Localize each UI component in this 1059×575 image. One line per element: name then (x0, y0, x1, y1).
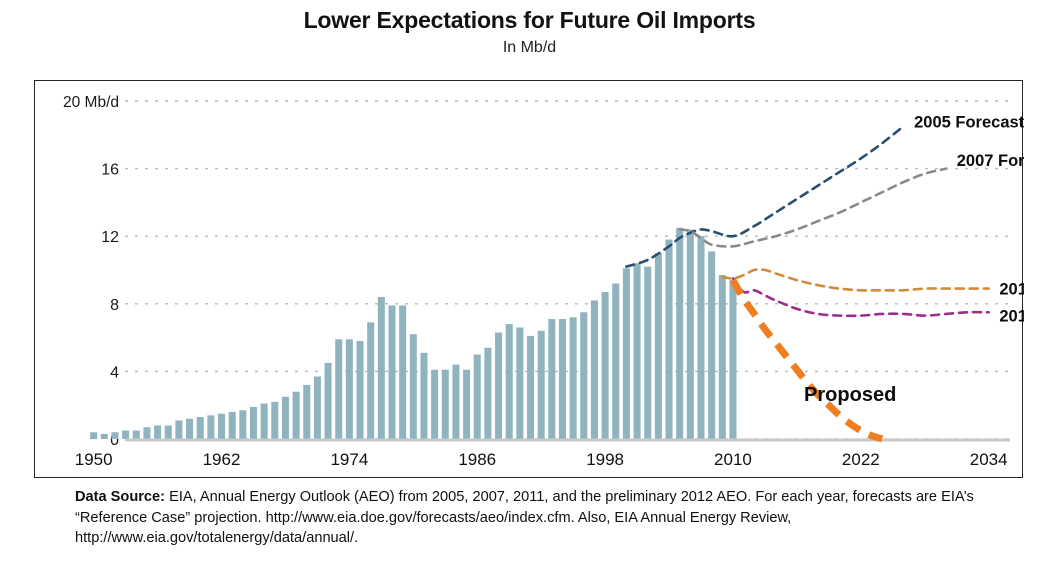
svg-text:2012 Forcast: 2012 Forcast (999, 308, 1024, 326)
svg-text:1998: 1998 (586, 450, 624, 469)
svg-text:1986: 1986 (458, 450, 496, 469)
y-axis-labels: 048121620 Mb/d (63, 94, 119, 449)
svg-text:Proposed: Proposed (804, 384, 896, 406)
svg-text:2005 Forecast: 2005 Forecast (914, 113, 1024, 131)
svg-text:2011 Forcast: 2011 Forcast (999, 281, 1024, 299)
bar-series (90, 228, 736, 439)
svg-text:2007 Forecast: 2007 Forecast (957, 152, 1024, 170)
svg-text:16: 16 (101, 162, 119, 179)
data-source-label: Data Source: (75, 489, 165, 505)
svg-text:2010: 2010 (714, 450, 752, 469)
svg-text:1962: 1962 (203, 450, 241, 469)
chart-subtitle: In Mb/d (0, 39, 1059, 57)
data-source-footnote: Data Source: EIA, Annual Energy Outlook … (75, 487, 985, 549)
chart-plot-area: 048121620 Mb/d 1950196219741986199820102… (35, 81, 1024, 479)
title-block: Lower Expectations for Future Oil Import… (0, 8, 1059, 57)
svg-text:2034: 2034 (970, 450, 1008, 469)
page-title: Lower Expectations for Future Oil Import… (0, 8, 1059, 33)
svg-text:1974: 1974 (330, 450, 368, 469)
x-axis-labels: 19501962197419861998201020222034 (75, 450, 1008, 469)
chart-frame: 048121620 Mb/d 1950196219741986199820102… (34, 80, 1023, 478)
data-source-text: EIA, Annual Energy Outlook (AEO) from 20… (75, 489, 974, 546)
svg-text:2022: 2022 (842, 450, 880, 469)
svg-text:1950: 1950 (75, 450, 113, 469)
svg-text:4: 4 (110, 364, 119, 381)
svg-text:12: 12 (101, 229, 119, 246)
series-annotations: 2005 Forecast2007 Forecast2011 Forcast20… (804, 113, 1024, 406)
svg-text:8: 8 (110, 297, 119, 314)
svg-text:20 Mb/d: 20 Mb/d (63, 94, 119, 111)
